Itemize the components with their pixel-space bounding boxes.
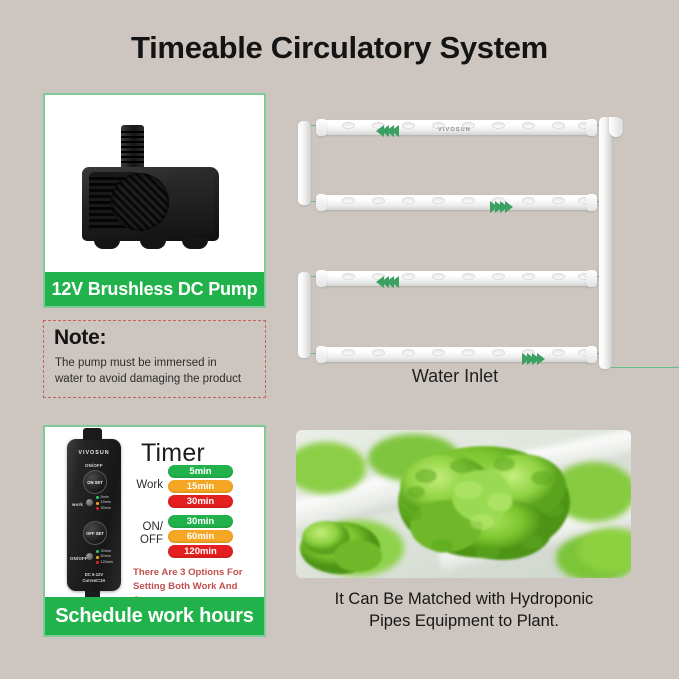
device-spec: DC 5-12V Current=3A — [67, 572, 121, 583]
note-body-line-1: The pump must be immersed in — [55, 356, 257, 372]
grow-pipe-row — [320, 347, 595, 362]
water-inlet-caption: Water Inlet — [290, 366, 620, 387]
note-heading: Note: — [54, 326, 106, 350]
work-option-chip[interactable]: 30min — [168, 495, 233, 508]
flow-arrow-right — [522, 353, 542, 365]
flow-arrow-left — [376, 276, 396, 288]
pump-suction-cup — [94, 237, 120, 249]
onoff-option-chip[interactable]: 30min — [168, 515, 233, 528]
pump-caption-bar: 12V Brushless DC Pump — [45, 272, 264, 306]
device-work-label: work — [72, 502, 83, 507]
pump-suction-cup — [182, 237, 208, 249]
flow-arrow-right — [490, 201, 510, 213]
pipe-end-cap — [316, 119, 327, 136]
work-indicator-led — [86, 499, 93, 506]
device-brand-label: VIVOSUN — [67, 450, 121, 456]
plant-caption-line-1: It Can Be Matched with Hydroponic — [286, 588, 642, 610]
hydroponic-lettuce-photo — [296, 430, 631, 578]
pipe-end-cap — [586, 119, 597, 136]
onoff-group-label: ON/ OFF — [123, 521, 163, 547]
grow-pipe-row — [320, 195, 595, 210]
device-onoff-label-top: ON/OFF — [85, 463, 103, 468]
lettuce-illustration — [296, 430, 631, 578]
grow-pipe-row — [320, 271, 595, 286]
led-legend-item: 120min — [96, 560, 113, 565]
power-cord-top — [83, 428, 102, 440]
note-box: Note: The pump must be immersed in water… — [43, 320, 266, 398]
product-infographic: Timeable Circulatory System 12V Brushles… — [0, 0, 679, 679]
work-led-legend: 5min 15min 30min — [96, 495, 111, 511]
pipe-end-cap — [586, 194, 597, 211]
pump-panel: 12V Brushless DC Pump — [43, 93, 266, 308]
onoff-group-label-line-2: OFF — [123, 534, 163, 547]
pipe-end-cap — [316, 270, 327, 287]
pump-impeller-cover — [111, 173, 169, 231]
device-spec-current: Current=3A — [67, 578, 121, 584]
pump-outlet-spout — [121, 125, 144, 171]
work-option-chip[interactable]: 15min — [168, 480, 233, 493]
plant-caption-line-2: Pipes Equipment to Plant. — [286, 610, 642, 632]
timer-device-image: VIVOSUN ON/OFF ON SET work 5min 15min 30… — [67, 439, 121, 591]
onoff-group-label-line-1: ON/ — [123, 521, 163, 534]
onoff-option-chip[interactable]: 120min — [168, 545, 233, 558]
right-manifold-pipe — [599, 117, 612, 369]
page-title: Timeable Circulatory System — [0, 30, 679, 66]
pipe-end-cap — [316, 194, 327, 211]
pump-image — [45, 95, 264, 272]
pipe-system-diagram: VIVOSUN — [290, 105, 679, 365]
off-set-button[interactable]: OFF SET — [83, 521, 107, 545]
work-group-label: Work — [127, 479, 163, 492]
pipe-brand-label: VIVOSUN — [438, 127, 471, 133]
on-set-button[interactable]: ON SET — [83, 470, 107, 494]
pump-suction-cup — [140, 237, 166, 249]
flow-arrow-left — [376, 125, 396, 137]
note-body: The pump must be immersed in water to av… — [55, 356, 257, 388]
pipe-elbow-fitting — [609, 117, 623, 137]
left-riser-pipe — [298, 272, 311, 358]
onoff-indicator-led — [86, 553, 93, 560]
work-option-chip[interactable]: 5min — [168, 465, 233, 478]
note-body-line-2: water to avoid damaging the product — [55, 372, 257, 388]
led-legend-item: 30min — [96, 506, 111, 511]
plant-caption: It Can Be Matched with Hydroponic Pipes … — [286, 588, 642, 633]
timer-caption-bar: Schedule work hours — [45, 597, 264, 635]
onoff-led-legend: 30min 60min 120min — [96, 549, 113, 565]
left-riser-pipe — [298, 121, 311, 205]
onoff-option-chip[interactable]: 60min — [168, 530, 233, 543]
pipe-end-cap — [586, 270, 597, 287]
timer-panel: VIVOSUN ON/OFF ON SET work 5min 15min 30… — [43, 425, 266, 637]
timer-footnote-line-1: There Are 3 Options For — [133, 566, 258, 580]
pipe-end-cap — [316, 346, 327, 363]
timer-heading: Timer — [141, 439, 205, 468]
pipe-end-cap — [586, 346, 597, 363]
